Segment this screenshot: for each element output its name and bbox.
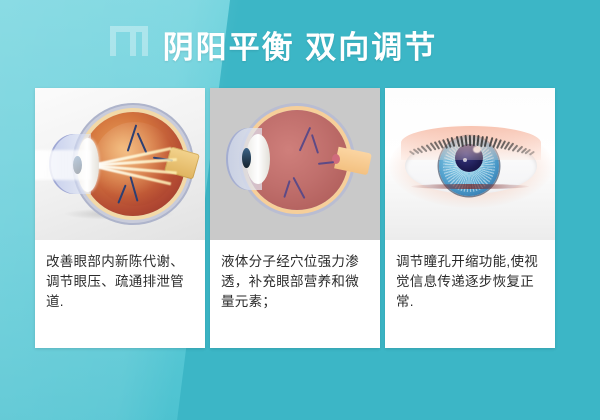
eyelash [477,135,480,146]
front-view-blue-iris-eye-image [385,88,555,240]
header: 阴阳平衡 双向调节 [0,0,600,88]
eyelash [460,135,463,146]
eyelash [464,135,467,146]
card-item[interactable]: 调节瞳孔开缩功能,使视觉信息传递逐步恢复正常. [385,88,555,348]
eyelash [455,136,459,147]
pupil [242,148,251,168]
eye-cross-section-with-light-rays-image [35,88,205,240]
card-caption: 液体分子经穴位强力渗透，补充眼部营养和微量元素； [210,240,380,348]
card-item[interactable]: 改善眼部内新陈代谢、调节眼压、疏通排泄管道. [35,88,205,348]
page-title: 阴阳平衡 双向调节 [0,22,600,67]
eyelash [484,136,488,147]
eyelash-row [407,132,535,154]
lower-lid-line [411,184,529,189]
eyelash [473,135,475,146]
card-item[interactable]: 液体分子经穴位强力渗透，补充眼部营养和微量元素； [210,88,380,348]
card-caption: 改善眼部内新陈代谢、调节眼压、疏通排泄管道. [35,240,205,348]
card-list: 改善眼部内新陈代谢、调节眼压、疏通排泄管道. 液体分子经穴位强力渗透，补充眼部营… [35,88,565,348]
poster-stage: 阴阳平衡 双向调节 [0,0,600,420]
card-caption: 调节瞳孔开缩功能,使视觉信息传递逐步恢复正常. [385,240,555,348]
incoming-light-beam [35,150,91,180]
eyelash [469,135,471,146]
eyelash [451,137,456,147]
eye-cross-section-optic-nerve-image [210,88,380,240]
